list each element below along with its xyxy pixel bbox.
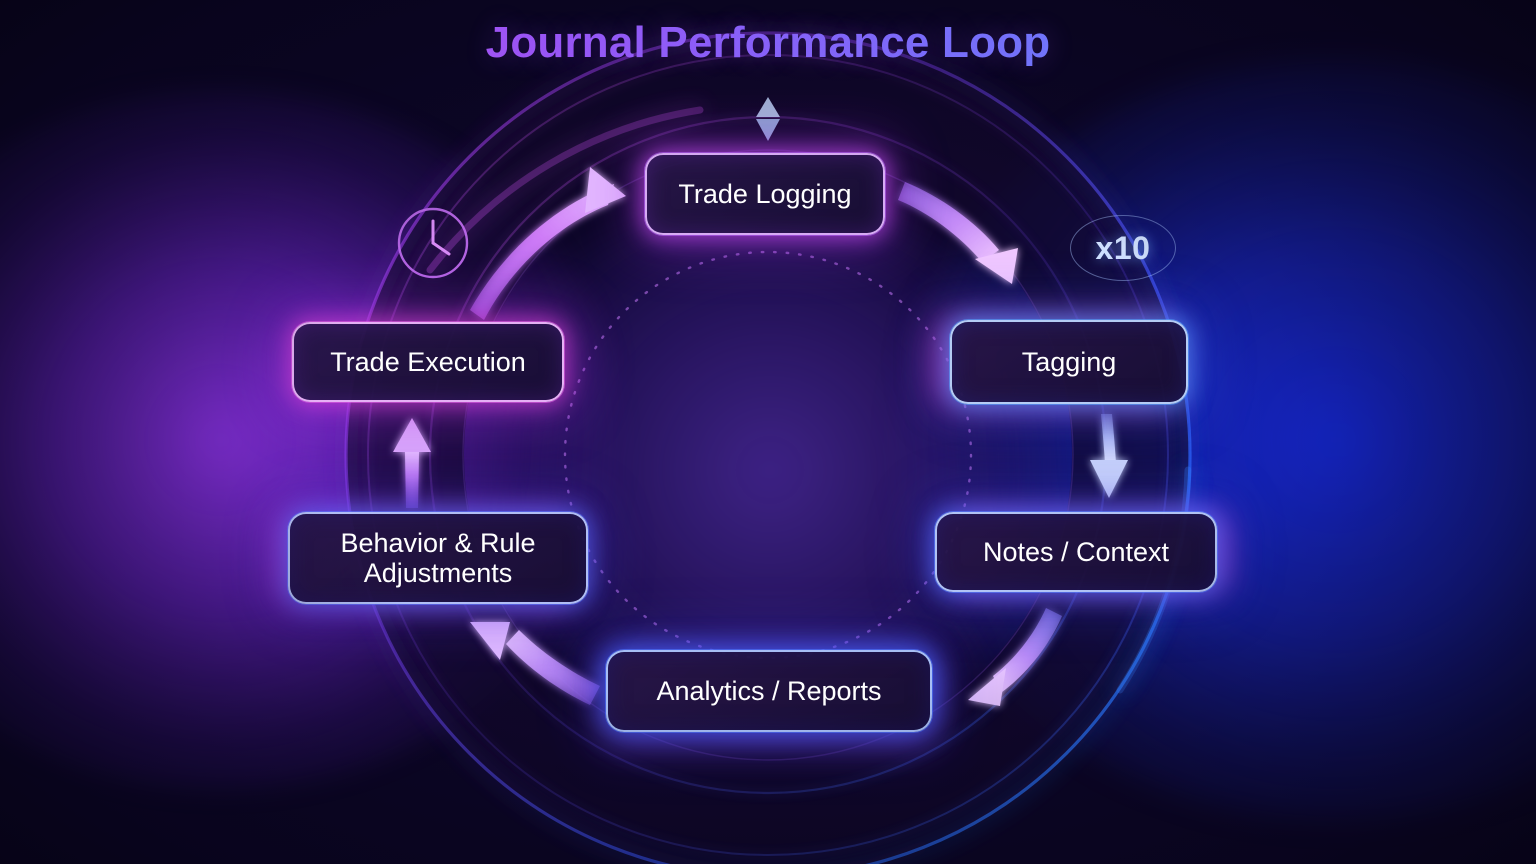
node-tagging[interactable]: Tagging [950, 320, 1188, 404]
repeat-x10-label: x10 [1096, 230, 1151, 267]
node-trade-execution[interactable]: Trade Execution [292, 322, 564, 402]
node-analytics-reports[interactable]: Analytics / Reports [606, 650, 932, 732]
page-title: Journal Performance Loop [0, 18, 1536, 68]
repeat-x10-badge: x10 [1070, 215, 1176, 281]
diagram-canvas: x10 Trade Logging Tagging Notes / Contex… [0, 0, 1536, 864]
node-notes-context[interactable]: Notes / Context [935, 512, 1217, 592]
clock-icon [396, 206, 470, 280]
double-triangle-marker-icon [753, 95, 783, 143]
node-trade-logging[interactable]: Trade Logging [645, 153, 885, 235]
inner-dotted-circle [565, 252, 971, 658]
node-behavior-rule-adjustments[interactable]: Behavior & Rule Adjustments [288, 512, 588, 604]
